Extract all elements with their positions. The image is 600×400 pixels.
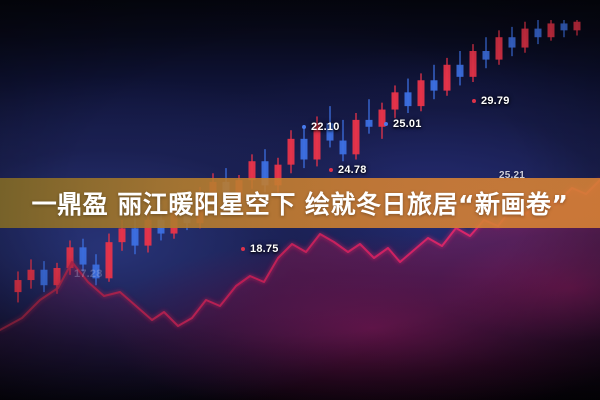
screenshot-canvas: 17.2818.7522.1025.0124.7829.7925.21 一鼎盈 …: [0, 0, 600, 400]
price-label: 29.79: [481, 95, 510, 107]
price-label: 22.10: [311, 121, 340, 133]
headline-banner: 一鼎盈 丽江暖阳星空下 绘就冬日旅居“新画卷”: [0, 178, 600, 228]
price-label: 18.75: [250, 243, 279, 255]
price-label: 25.01: [393, 118, 422, 130]
headline-text: 一鼎盈 丽江暖阳星空下 绘就冬日旅居“新画卷”: [32, 185, 569, 221]
price-label: 17.28: [74, 268, 103, 280]
price-label: 24.78: [338, 164, 367, 176]
